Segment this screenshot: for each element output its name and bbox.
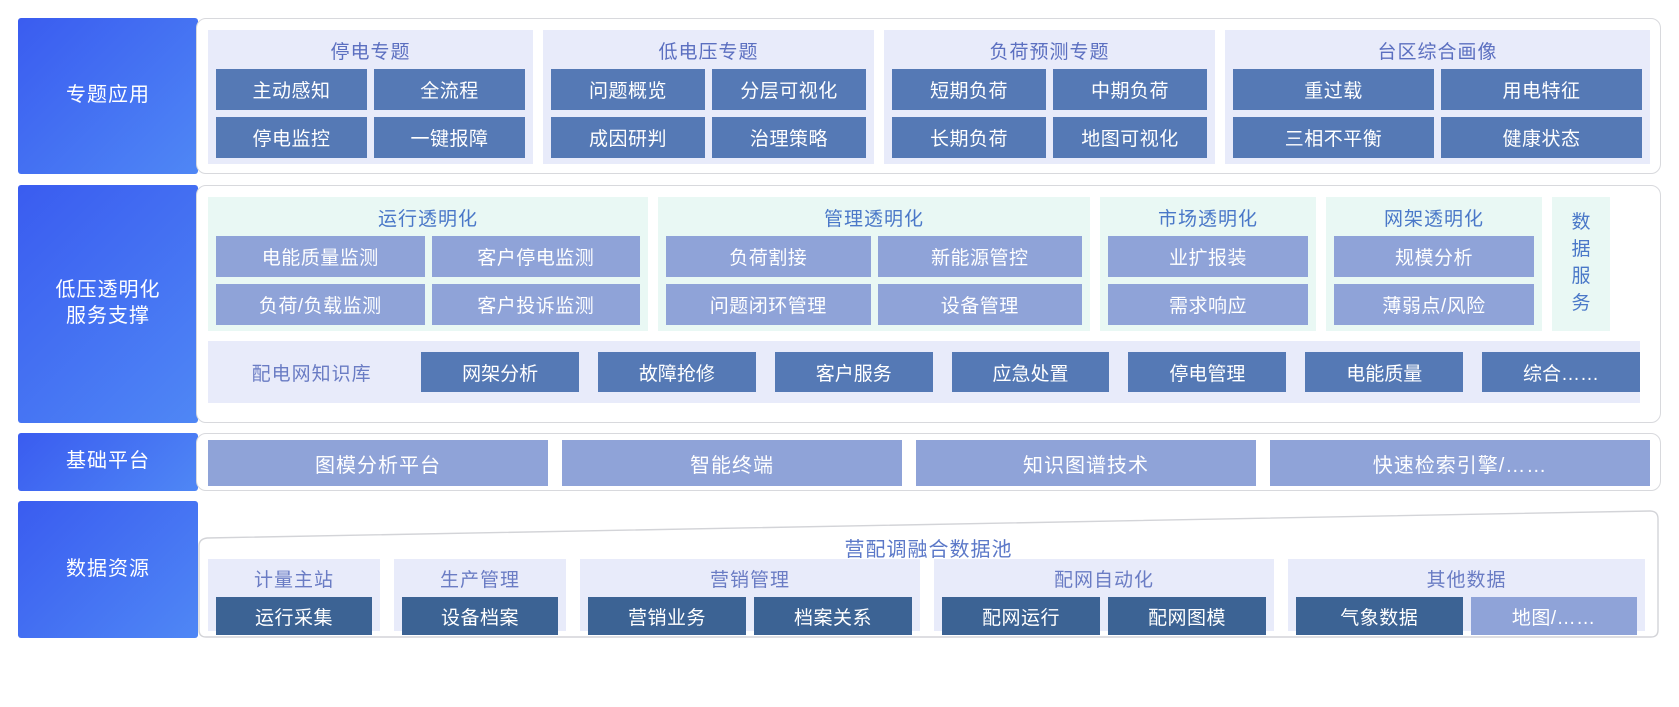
group-other-data[interactable]: 其他数据 气象数据 地图/……: [1288, 559, 1645, 631]
group-operation-transparency[interactable]: 运行透明化 电能质量监测 客户停电监测 负荷/负载监测 客户投诉监测: [208, 197, 648, 331]
tile-layered-visualization[interactable]: 分层可视化: [712, 69, 866, 110]
group-production-management[interactable]: 生产管理 设备档案: [394, 559, 566, 631]
tile-weather-data[interactable]: 气象数据: [1296, 597, 1463, 635]
group-load-forecast-topic[interactable]: 负荷预测专题 短期负荷 中期负荷 长期负荷 地图可视化: [884, 30, 1215, 164]
knowledge-base-label: 配电网知识库: [208, 359, 415, 386]
tile-one-click-report[interactable]: 一键报障: [374, 117, 525, 158]
tile-map-others[interactable]: 地图/……: [1471, 597, 1638, 635]
tile-row: 设备档案: [394, 597, 566, 643]
tile-row: 运行采集: [208, 597, 380, 643]
plat-tile-fast-search-engine[interactable]: 快速检索引擎/……: [1270, 440, 1650, 486]
tile-grid: 业扩报装 需求响应: [1100, 236, 1316, 334]
data-pool-title: 营配调融合数据池: [196, 533, 1661, 562]
kb-tile-comprehensive[interactable]: 综合……: [1482, 352, 1640, 392]
group-title: 负荷预测专题: [989, 37, 1109, 64]
tile-customer-complaint-monitor[interactable]: 客户投诉监测: [432, 284, 641, 325]
tile-governance-strategy[interactable]: 治理策略: [712, 117, 866, 158]
tile-grid: 主动感知 全流程 停电监控 一键报障: [208, 69, 533, 167]
band-label-lv-transparency: 低压透明化 服务支撑: [18, 185, 198, 423]
tile-row: 配网运行 配网图模: [934, 597, 1274, 643]
tile-cause-analysis[interactable]: 成因研判: [551, 117, 705, 158]
band-label-data-resources: 数据资源: [18, 501, 198, 638]
tile-health-status[interactable]: 健康状态: [1441, 117, 1642, 158]
tile-new-energy-control[interactable]: 新能源管控: [878, 236, 1083, 277]
plat-tile-graph-model-platform[interactable]: 图模分析平台: [208, 440, 548, 486]
band-label-text: 数据资源: [66, 557, 150, 583]
tile-mid-term-load[interactable]: 中期负荷: [1053, 69, 1207, 110]
group-title: 运行透明化: [378, 204, 478, 231]
tile-marketing-business[interactable]: 营销业务: [588, 597, 746, 635]
group-marketing-management[interactable]: 营销管理 营销业务 档案关系: [580, 559, 920, 631]
tile-full-process[interactable]: 全流程: [374, 69, 525, 110]
band-label-base-platform: 基础平台: [18, 433, 198, 491]
platform-tile-row: 图模分析平台 智能终端 知识图谱技术 快速检索引擎/……: [208, 439, 1651, 487]
tile-customer-outage-monitor[interactable]: 客户停电监测: [432, 236, 641, 277]
knowledge-base-strip: 配电网知识库 网架分析 故障抢修 客户服务 应急处置 停电管理 电能质量 综合……: [208, 341, 1640, 403]
kb-tile-power-quality[interactable]: 电能质量: [1305, 352, 1463, 392]
group-title: 网架透明化: [1384, 204, 1484, 231]
tile-equipment-management[interactable]: 设备管理: [878, 284, 1083, 325]
tile-map-visualization[interactable]: 地图可视化: [1053, 117, 1207, 158]
group-title: 计量主站: [254, 565, 334, 592]
tile-power-quality-monitor[interactable]: 电能质量监测: [216, 236, 425, 277]
group-title: 配网自动化: [1054, 565, 1154, 592]
tile-archive-relation[interactable]: 档案关系: [754, 597, 912, 635]
tile-weak-point-risk[interactable]: 薄弱点/风险: [1334, 284, 1534, 325]
data-service-char: 务: [1571, 291, 1590, 318]
tile-row: 气象数据 地图/……: [1288, 597, 1645, 643]
group-market-transparency[interactable]: 市场透明化 业扩报装 需求响应: [1100, 197, 1316, 331]
architecture-diagram: 专题应用 停电专题 主动感知 全流程 停电监控 一键报障 低电压专题 问题概览 …: [0, 0, 1679, 707]
band-label-text: 专题应用: [66, 83, 150, 109]
tile-scale-analysis[interactable]: 规模分析: [1334, 236, 1534, 277]
tile-grid: 重过载 用电特征 三相不平衡 健康状态: [1225, 69, 1650, 167]
kb-tile-fault-repair[interactable]: 故障抢修: [598, 352, 756, 392]
plat-tile-smart-terminal[interactable]: 智能终端: [562, 440, 902, 486]
tile-long-term-load[interactable]: 长期负荷: [892, 117, 1046, 158]
panel-lv-transparency: 运行透明化 电能质量监测 客户停电监测 负荷/负载监测 客户投诉监测 管理透明化…: [196, 185, 1661, 423]
tile-demand-response[interactable]: 需求响应: [1108, 284, 1308, 325]
tile-three-phase-imbalance[interactable]: 三相不平衡: [1233, 117, 1434, 158]
tile-outage-monitor[interactable]: 停电监控: [216, 117, 367, 158]
tile-distribution-operation[interactable]: 配网运行: [942, 597, 1100, 635]
tile-grid: 短期负荷 中期负荷 长期负荷 地图可视化: [884, 69, 1215, 167]
group-title: 台区综合画像: [1377, 37, 1497, 64]
kb-tile-customer-service[interactable]: 客户服务: [775, 352, 933, 392]
band-label-topic-apps: 专题应用: [18, 18, 198, 174]
tile-equipment-archive[interactable]: 设备档案: [402, 597, 558, 635]
tile-problem-closed-loop[interactable]: 问题闭环管理: [666, 284, 871, 325]
tile-heavy-overload[interactable]: 重过载: [1233, 69, 1434, 110]
panel-topic-apps: 停电专题 主动感知 全流程 停电监控 一键报障 低电压专题 问题概览 分层可视化…: [196, 18, 1661, 174]
tile-grid: 负荷割接 新能源管控 问题闭环管理 设备管理: [658, 236, 1090, 334]
tile-short-term-load[interactable]: 短期负荷: [892, 69, 1046, 110]
kb-tile-grid-analysis[interactable]: 网架分析: [421, 352, 579, 392]
group-title: 市场透明化: [1158, 204, 1258, 231]
panel-data-pool: 营配调融合数据池 计量主站 运行采集 生产管理 设备档案 营销管理 营销业务 档…: [196, 501, 1661, 638]
kb-tile-outage-management[interactable]: 停电管理: [1128, 352, 1286, 392]
plat-tile-knowledge-graph-tech[interactable]: 知识图谱技术: [916, 440, 1256, 486]
panel-base-platform: 图模分析平台 智能终端 知识图谱技术 快速检索引擎/……: [196, 433, 1661, 491]
tile-power-usage-feature[interactable]: 用电特征: [1441, 69, 1642, 110]
tile-distribution-graph-model[interactable]: 配网图模: [1108, 597, 1266, 635]
group-grid-transparency[interactable]: 网架透明化 规模分析 薄弱点/风险: [1326, 197, 1542, 331]
group-distribution-automation[interactable]: 配网自动化 配网运行 配网图模: [934, 559, 1274, 631]
group-management-transparency[interactable]: 管理透明化 负荷割接 新能源管控 问题闭环管理 设备管理: [658, 197, 1090, 331]
group-station-portrait[interactable]: 台区综合画像 重过载 用电特征 三相不平衡 健康状态: [1225, 30, 1650, 164]
kb-tile-emergency-handling[interactable]: 应急处置: [952, 352, 1110, 392]
group-outage-topic[interactable]: 停电专题 主动感知 全流程 停电监控 一键报障: [208, 30, 533, 164]
tile-load-transfer[interactable]: 负荷割接: [666, 236, 871, 277]
tile-operation-collection[interactable]: 运行采集: [216, 597, 372, 635]
band-label-text: 基础平台: [66, 449, 150, 475]
data-service-char: 数: [1571, 210, 1590, 237]
group-title: 管理透明化: [824, 204, 924, 231]
group-low-voltage-topic[interactable]: 低电压专题 问题概览 分层可视化 成因研判 治理策略: [543, 30, 874, 164]
group-title: 停电专题: [330, 37, 410, 64]
group-title: 生产管理: [440, 565, 520, 592]
group-title: 其他数据: [1426, 565, 1506, 592]
tile-business-expansion[interactable]: 业扩报装: [1108, 236, 1308, 277]
tile-load-monitor[interactable]: 负荷/负载监测: [216, 284, 425, 325]
tile-active-sensing[interactable]: 主动感知: [216, 69, 367, 110]
band-label-text: 低压透明化 服务支撑: [56, 278, 161, 329]
tile-row: 营销业务 档案关系: [580, 597, 920, 643]
data-service-char: 据: [1571, 237, 1590, 264]
data-service-char: 服: [1571, 264, 1590, 291]
tile-problem-overview[interactable]: 问题概览: [551, 69, 705, 110]
group-data-service[interactable]: 数 据 服 务: [1552, 197, 1610, 331]
tile-grid: 规模分析 薄弱点/风险: [1326, 236, 1542, 334]
group-title: 低电压专题: [658, 37, 758, 64]
tile-grid: 问题概览 分层可视化 成因研判 治理策略: [543, 69, 874, 167]
data-pool-groups: 计量主站 运行采集 生产管理 设备档案 营销管理 营销业务 档案关系 配网: [208, 559, 1649, 631]
group-metering-master-station[interactable]: 计量主站 运行采集: [208, 559, 380, 631]
tile-grid: 电能质量监测 客户停电监测 负荷/负载监测 客户投诉监测: [208, 236, 648, 334]
group-title: 营销管理: [710, 565, 790, 592]
